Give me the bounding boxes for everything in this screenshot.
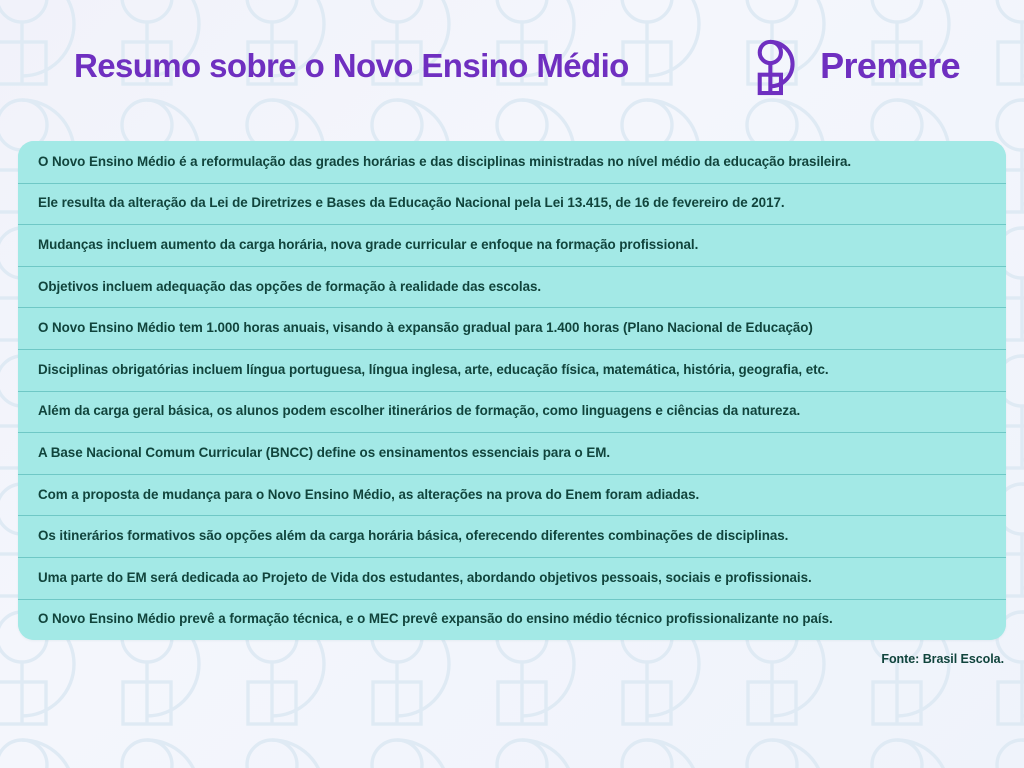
fact-text: Objetivos incluem adequação das opções d… bbox=[38, 279, 541, 295]
fact-text: Ele resulta da alteração da Lei de Diret… bbox=[38, 195, 785, 211]
fact-row: Com a proposta de mudança para o Novo En… bbox=[18, 474, 1006, 516]
fact-row: O Novo Ensino Médio prevê a formação téc… bbox=[18, 599, 1006, 641]
fact-text: O Novo Ensino Médio tem 1.000 horas anua… bbox=[38, 320, 813, 336]
fact-row: Além da carga geral básica, os alunos po… bbox=[18, 391, 1006, 433]
fact-row: Uma parte do EM será dedicada ao Projeto… bbox=[18, 557, 1006, 599]
fact-text: Os itinerários formativos são opções alé… bbox=[38, 528, 788, 544]
fact-row: O Novo Ensino Médio tem 1.000 horas anua… bbox=[18, 307, 1006, 349]
facts-card: O Novo Ensino Médio é a reformulação das… bbox=[18, 141, 1006, 640]
fact-row: A Base Nacional Comum Curricular (BNCC) … bbox=[18, 432, 1006, 474]
fact-text: O Novo Ensino Médio é a reformulação das… bbox=[38, 154, 851, 170]
fact-row: Objetivos incluem adequação das opções d… bbox=[18, 266, 1006, 308]
fact-text: Mudanças incluem aumento da carga horári… bbox=[38, 237, 698, 253]
fact-text: Além da carga geral básica, os alunos po… bbox=[38, 403, 800, 419]
page-title: Resumo sobre o Novo Ensino Médio bbox=[74, 48, 629, 84]
fact-text: O Novo Ensino Médio prevê a formação téc… bbox=[38, 611, 833, 627]
poster-header: Resumo sobre o Novo Ensino Médio Premere bbox=[0, 0, 1024, 132]
source-attribution: Fonte: Brasil Escola. bbox=[881, 652, 1004, 666]
premere-logo-mark-icon bbox=[752, 33, 808, 99]
poster-canvas: Resumo sobre o Novo Ensino Médio Premere… bbox=[0, 0, 1024, 768]
fact-row: Os itinerários formativos são opções alé… bbox=[18, 515, 1006, 557]
fact-text: A Base Nacional Comum Curricular (BNCC) … bbox=[38, 445, 610, 461]
fact-text: Disciplinas obrigatórias incluem língua … bbox=[38, 362, 829, 378]
brand-name: Premere bbox=[820, 48, 960, 84]
fact-row: O Novo Ensino Médio é a reformulação das… bbox=[18, 141, 1006, 183]
fact-text: Uma parte do EM será dedicada ao Projeto… bbox=[38, 570, 812, 586]
fact-row: Mudanças incluem aumento da carga horári… bbox=[18, 224, 1006, 266]
fact-row: Disciplinas obrigatórias incluem língua … bbox=[18, 349, 1006, 391]
fact-text: Com a proposta de mudança para o Novo En… bbox=[38, 487, 699, 503]
brand-lockup: Premere bbox=[752, 33, 960, 99]
fact-row: Ele resulta da alteração da Lei de Diret… bbox=[18, 183, 1006, 225]
